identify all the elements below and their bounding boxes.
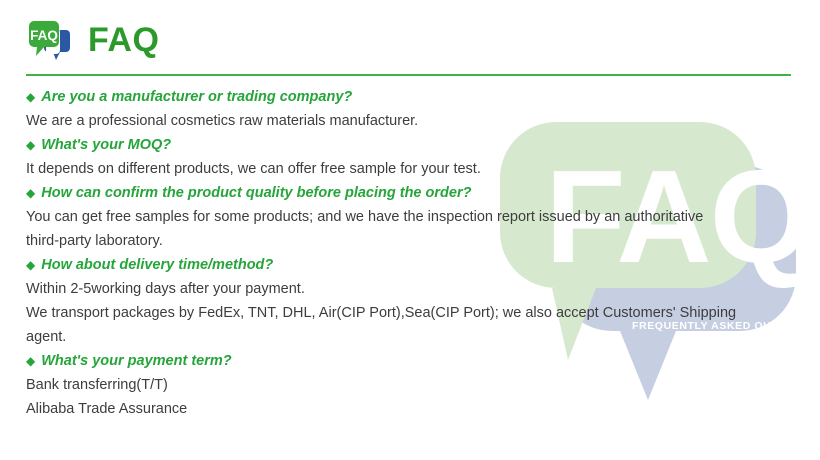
header-divider xyxy=(26,74,791,76)
faq-item: ◆How about delivery time/method?Within 2… xyxy=(26,253,796,349)
faq-answer: Bank transferring(T/T)Alibaba Trade Assu… xyxy=(26,373,796,421)
faq-answer: We are a professional cosmetics raw mate… xyxy=(26,109,796,133)
diamond-bullet-icon: ◆ xyxy=(26,349,35,373)
diamond-bullet-icon: ◆ xyxy=(26,181,35,205)
diamond-bullet-icon: ◆ xyxy=(26,253,35,277)
faq-answer-line: You can get free samples for some produc… xyxy=(26,205,796,229)
faq-item: ◆How can confirm the product quality bef… xyxy=(26,181,796,253)
diamond-bullet-icon: ◆ xyxy=(26,133,35,157)
faq-question-text: What's your payment term? xyxy=(41,349,231,373)
faq-answer-line: We are a professional cosmetics raw mate… xyxy=(26,109,796,133)
faq-answer-line: It depends on different products, we can… xyxy=(26,157,796,181)
faq-logo-icon: FAQ xyxy=(26,16,74,64)
faq-answer: It depends on different products, we can… xyxy=(26,157,796,181)
faq-answer: Within 2-5working days after your paymen… xyxy=(26,277,796,349)
faq-question[interactable]: ◆Are you a manufacturer or trading compa… xyxy=(26,85,796,109)
faq-answer-line: third-party laboratory. xyxy=(26,229,796,253)
faq-answer-line: Bank transferring(T/T) xyxy=(26,373,796,397)
svg-text:FAQ: FAQ xyxy=(30,28,58,43)
faq-list: ◆Are you a manufacturer or trading compa… xyxy=(26,85,796,421)
page-header: FAQ FAQ xyxy=(26,16,159,64)
faq-answer-line: agent. xyxy=(26,325,796,349)
faq-answer: You can get free samples for some produc… xyxy=(26,205,796,253)
faq-question[interactable]: ◆How about delivery time/method? xyxy=(26,253,796,277)
faq-item: ◆Are you a manufacturer or trading compa… xyxy=(26,85,796,133)
faq-item: ◆What's your MOQ?It depends on different… xyxy=(26,133,796,181)
faq-answer-line: Alibaba Trade Assurance xyxy=(26,397,796,421)
page-title: FAQ xyxy=(88,23,159,57)
diamond-bullet-icon: ◆ xyxy=(26,85,35,109)
faq-question-text: What's your MOQ? xyxy=(41,133,171,157)
faq-question-text: Are you a manufacturer or trading compan… xyxy=(41,85,352,109)
faq-answer-line: Within 2-5working days after your paymen… xyxy=(26,277,796,301)
faq-question[interactable]: ◆What's your payment term? xyxy=(26,349,796,373)
faq-question[interactable]: ◆How can confirm the product quality bef… xyxy=(26,181,796,205)
faq-item: ◆What's your payment term?Bank transferr… xyxy=(26,349,796,421)
faq-question-text: How about delivery time/method? xyxy=(41,253,273,277)
faq-question[interactable]: ◆What's your MOQ? xyxy=(26,133,796,157)
faq-answer-line: We transport packages by FedEx, TNT, DHL… xyxy=(26,301,796,325)
faq-page: FAQ FREQUENTLY ASKED QUESTIONS FAQ FAQ ◆… xyxy=(0,0,820,460)
faq-question-text: How can confirm the product quality befo… xyxy=(41,181,471,205)
